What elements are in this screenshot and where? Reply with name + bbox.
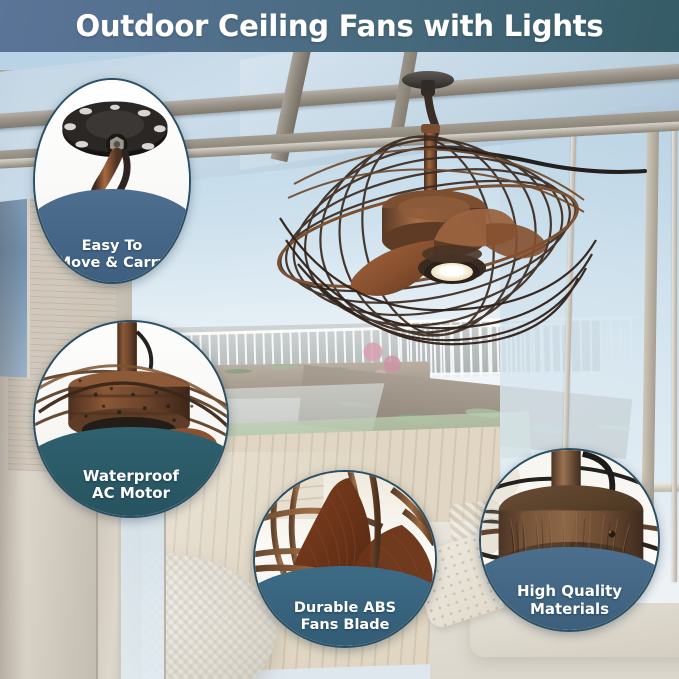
caption-line-2: Fans Blade [301, 617, 390, 634]
ceiling-fan-product [228, 58, 648, 358]
callout-caption-abs-blade: Durable ABS Fans Blade [253, 566, 437, 646]
caption-line-2: AC Motor [92, 485, 170, 502]
caption-line-2: Materials [530, 601, 609, 618]
callout-durable-abs-blade[interactable]: Durable ABS Fans Blade [253, 470, 437, 648]
header-banner: Outdoor Ceiling Fans with Lights [0, 0, 679, 52]
callout-caption-waterproof: Waterproof AC Motor [33, 427, 229, 516]
caption-line-1: Easy To [82, 238, 143, 255]
caption-line-1: Waterproof [83, 468, 179, 485]
callout-caption-high-quality: High Quality Materials [479, 547, 660, 630]
callout-high-quality-materials[interactable]: High Quality Materials [479, 448, 660, 632]
caption-line-2: Move & Carry [57, 255, 168, 272]
callout-caption-easy-to-move: Easy To Move & Carry [33, 189, 191, 282]
caption-line-1: Durable ABS [294, 600, 396, 617]
page-title: Outdoor Ceiling Fans with Lights [75, 9, 603, 43]
callout-easy-to-move[interactable]: Easy To Move & Carry [33, 78, 191, 284]
callout-waterproof-ac-motor[interactable]: Waterproof AC Motor [33, 320, 229, 518]
caption-line-1: High Quality [517, 583, 622, 600]
infographic-stage: Outdoor Ceiling Fans with Lights [0, 0, 679, 679]
